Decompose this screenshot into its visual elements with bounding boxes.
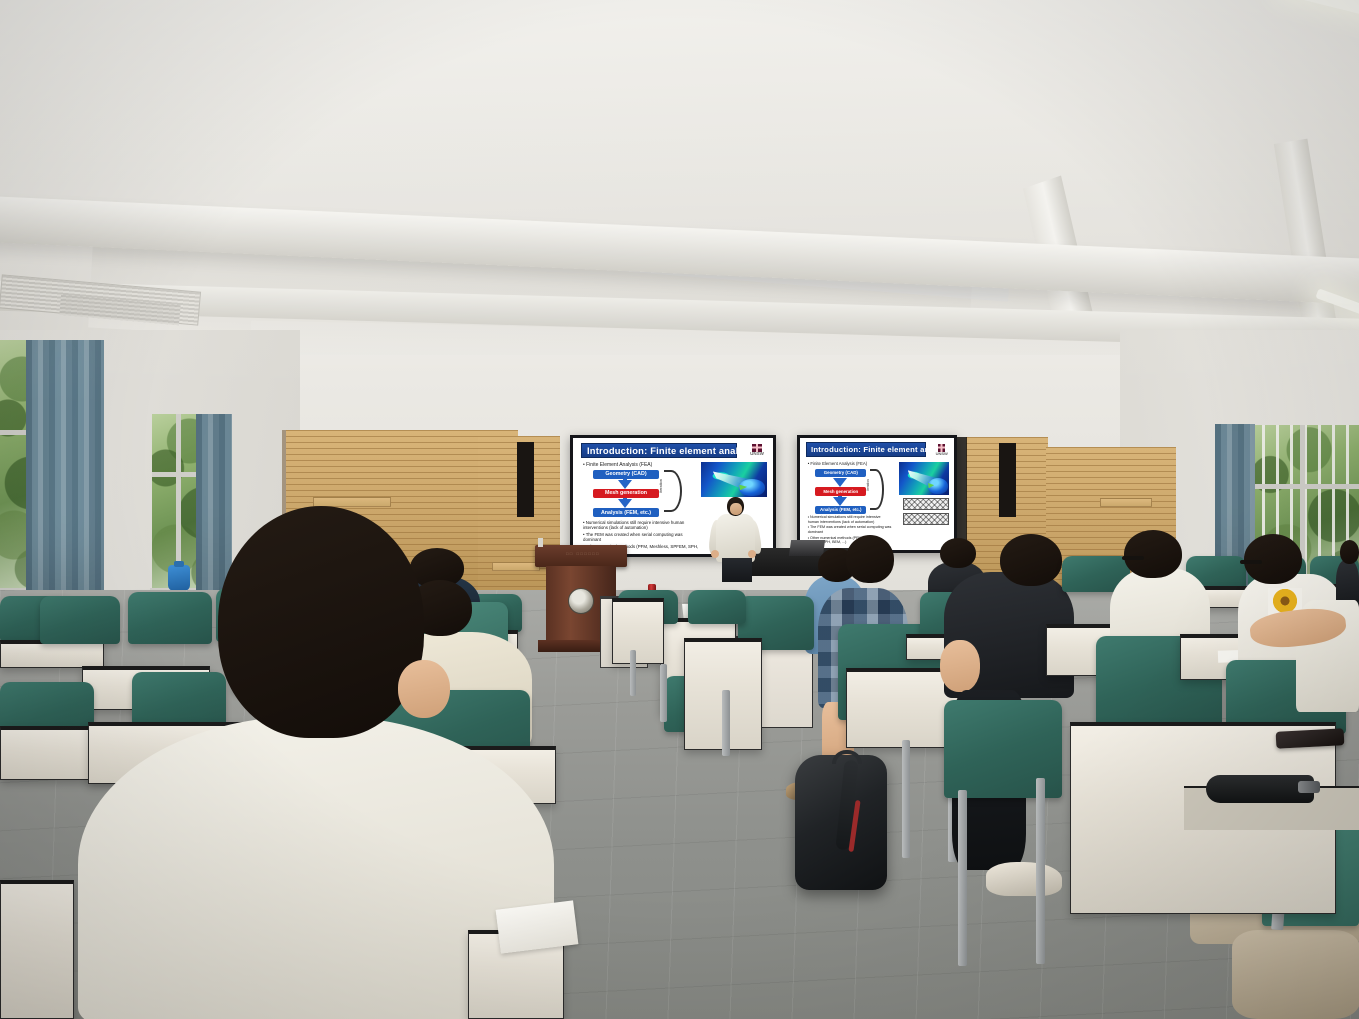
university-seal — [568, 588, 594, 614]
cfd-turbine-blade-image-right — [899, 462, 950, 496]
attendee-plaid-shirt-head — [846, 535, 894, 583]
flow-arrow-1-icon — [620, 479, 630, 489]
desk-empty-l1 — [0, 640, 104, 668]
iteration-label: Iteration — [659, 480, 663, 494]
wood-panel-inset-right — [1100, 498, 1152, 507]
flow-step-geometry: Geometry (CAD) — [593, 470, 659, 479]
flow-arrow-2-icon-right — [836, 496, 844, 506]
presenter-trousers — [722, 558, 752, 582]
slide-bullet-2-right: The FEM was created when serial computin… — [808, 525, 893, 535]
laptop — [789, 540, 825, 556]
wall-dark-panel-right — [999, 443, 1016, 517]
foreground-attendee-head — [218, 506, 424, 738]
chair-empty-c2[interactable] — [688, 590, 746, 624]
chair-leg-c6 — [660, 664, 667, 722]
water-jug-cap — [174, 561, 184, 567]
flow-step-analysis: Analysis (FEM, etc.) — [593, 508, 659, 517]
attendee-far-rear-head — [1340, 540, 1359, 564]
attendee-black-tee-arm — [940, 640, 980, 692]
slide-title-right: Introduction: Finite element analysis — [806, 442, 926, 457]
presenter-hand-left — [711, 550, 719, 558]
curtain-left-1 — [26, 340, 104, 612]
slide-title: Introduction: Finite element analysis — [581, 443, 737, 458]
attendee-black-tee-head — [1000, 534, 1062, 586]
chair-leg-c7 — [630, 650, 636, 696]
flow-arrow-2-icon — [620, 498, 630, 508]
unsw-logo-right: UNSW — [933, 441, 950, 458]
lectern-mic-icon — [538, 538, 543, 547]
attendee-white-shirt-glasses-eyewear — [1122, 556, 1144, 560]
iteration-arc-icon-right — [870, 469, 884, 509]
slide-lead-bullet: • Finite Element Analysis (FEA) — [583, 462, 652, 468]
chair-leg-c3 — [1036, 778, 1045, 964]
lectern-top — [535, 545, 627, 567]
curtain-left-2 — [196, 414, 232, 596]
chair-empty-l3[interactable] — [128, 592, 212, 644]
iteration-arc-icon — [664, 470, 682, 512]
wall-dark-panel-left — [517, 442, 534, 517]
slide-lead-bullet-text-right: Finite Element Analysis (FEA) — [810, 461, 867, 466]
unsw-logo-text: UNSW — [750, 452, 764, 457]
smartphone — [1276, 728, 1345, 749]
unsw-logo: UNSW — [746, 441, 768, 458]
slide-bullet-1-right: Numerical simulations still require inte… — [808, 515, 893, 525]
desk-empty-c1 — [612, 598, 664, 664]
chair-leg-c5 — [722, 690, 730, 756]
chair-empty-l2[interactable] — [40, 596, 120, 644]
flow-step-mesh-right: Mesh generation — [815, 487, 866, 495]
flow-step-mesh: Mesh generation — [593, 489, 659, 498]
cfd-turbine-blade-image — [701, 462, 767, 497]
slide-right: Introduction: Finite element analysis UN… — [800, 438, 954, 550]
lecture-hall-photo: Introduction: Finite element analysis UN… — [0, 0, 1359, 1019]
chair-leg-c4 — [958, 790, 967, 966]
slide-lead-bullet-right: • Finite Element Analysis (FEA) — [808, 461, 868, 466]
attendee-sunflower-tee-eyewear — [1240, 560, 1262, 564]
slide-bullet-1: Numerical simulations still require inte… — [583, 520, 699, 531]
iteration-label-right: Iteration — [866, 479, 870, 491]
umbrella-tip — [1298, 781, 1320, 793]
attendee-black-tee-shoe — [986, 862, 1062, 896]
attendee-sunflower-tee-head — [1244, 534, 1302, 584]
flow-step-geometry-right: Geometry (CAD) — [815, 469, 866, 477]
wood-panel-inset-left2 — [492, 562, 540, 571]
attendee-white-shirt-glasses-head — [1124, 530, 1182, 578]
desk-empty-l5 — [0, 880, 74, 1019]
slide-lead-bullet-text: Finite Element Analysis (FEA) — [586, 462, 652, 468]
flow-step-analysis-right: Analysis (FEM, etc.) — [815, 506, 866, 514]
water-jug — [168, 565, 190, 591]
mesh-detail-image-1 — [903, 498, 949, 510]
attendee-dark-tee-rear-head — [940, 538, 976, 568]
lectern-engraved-text: □□ □□□□□□ — [552, 551, 614, 556]
presenter-hand-right — [748, 550, 756, 558]
presenter-face — [730, 503, 742, 515]
slide-bullet-2: The FEM was created when serial computin… — [583, 532, 699, 543]
attendee-right-khaki-leg-2 — [1232, 930, 1359, 1019]
unsw-logo-text-right: UNSW — [936, 452, 948, 456]
mesh-detail-image-2 — [903, 513, 949, 525]
foreground-attendee-hand — [398, 660, 450, 718]
chair-leg-c1 — [902, 740, 910, 858]
